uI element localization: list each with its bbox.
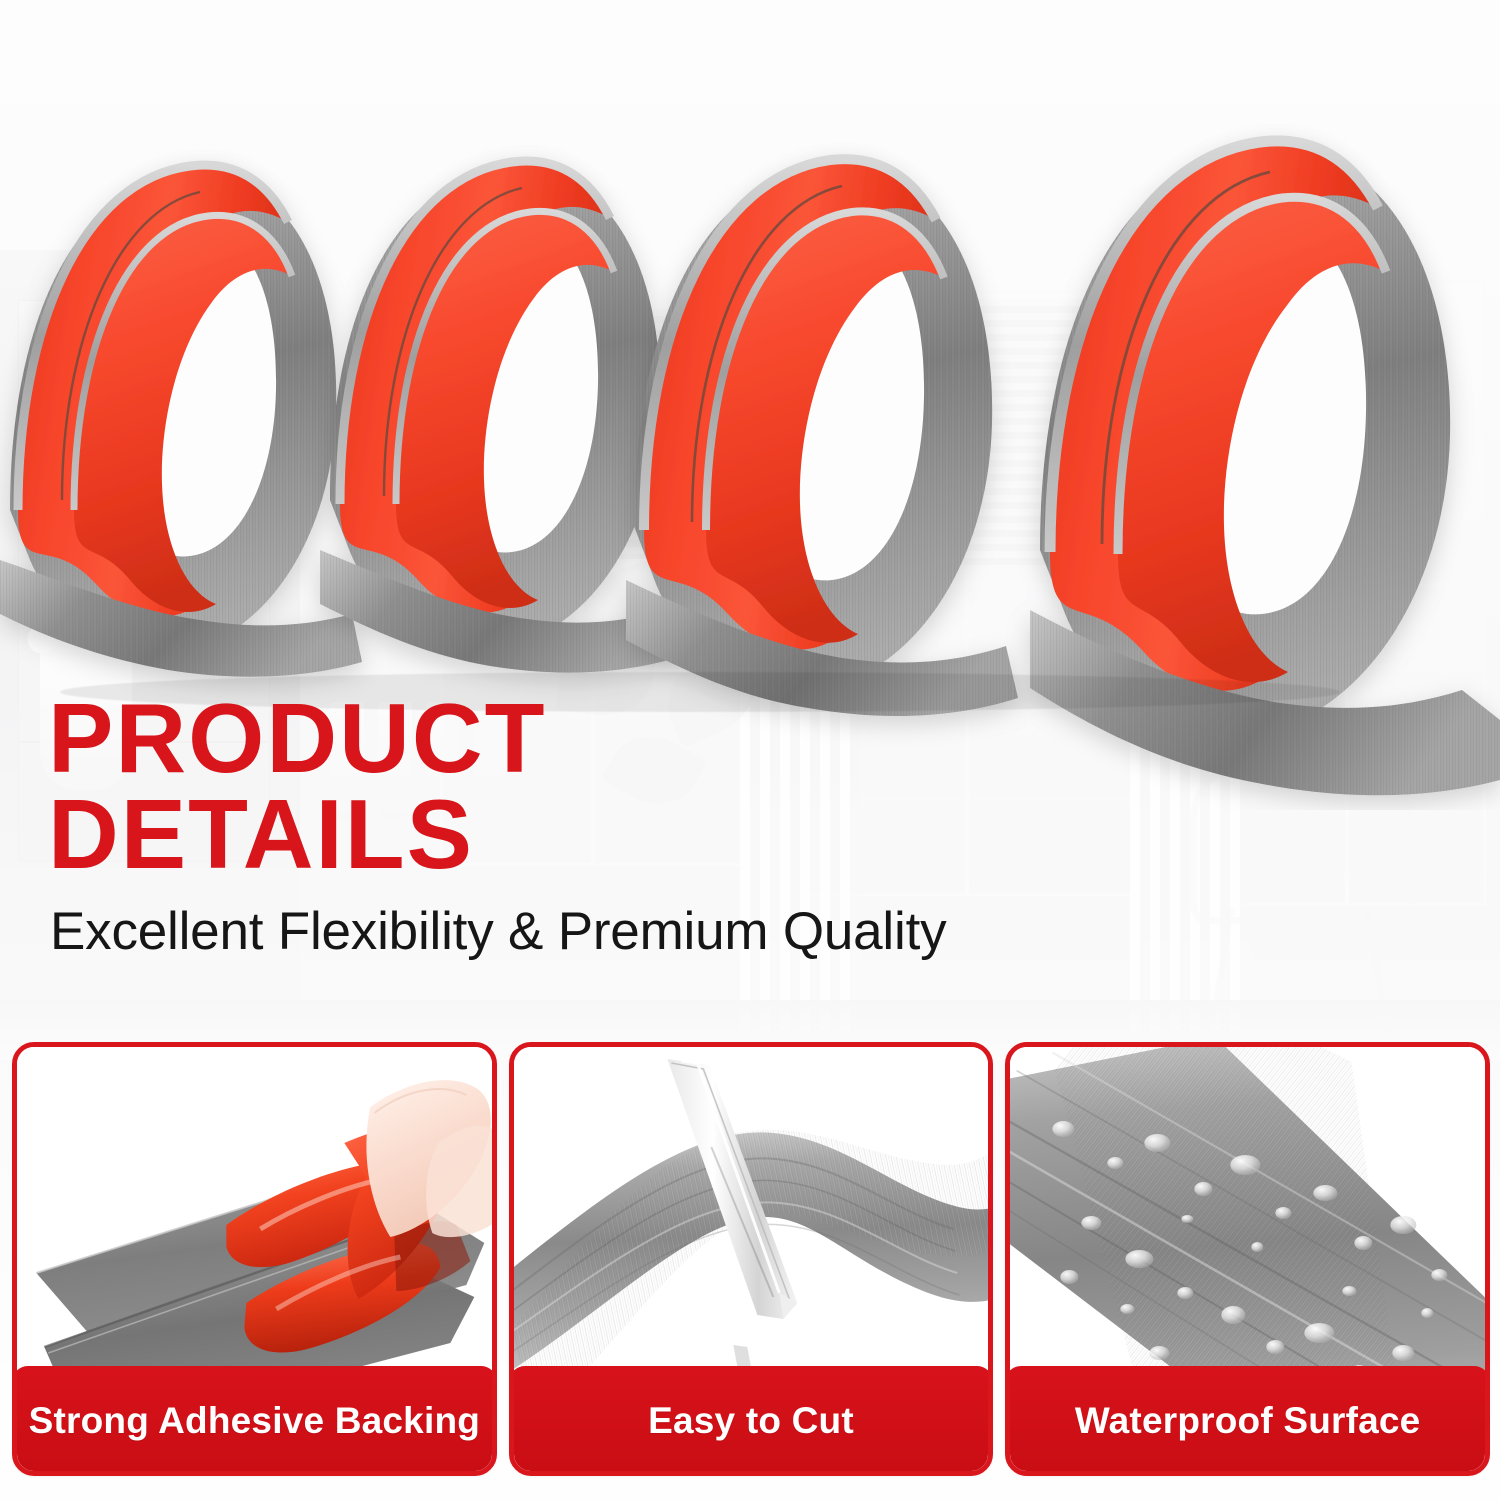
panel-caption-waterproof: Waterproof Surface xyxy=(1005,1366,1490,1476)
feature-panel-cut: Easy to Cut xyxy=(509,1042,994,1476)
headline-subtitle: Excellent Flexibility & Premium Quality xyxy=(50,904,1228,960)
coil-loop-3 xyxy=(626,159,1018,716)
panel-caption-adhesive: Strong Adhesive Backing xyxy=(12,1366,497,1476)
panel-caption-label: Waterproof Surface xyxy=(1075,1400,1421,1442)
product-detail-banner: PRODUCT DETAILS Excellent Flexibility & … xyxy=(0,0,1500,1500)
feature-panels: Strong Adhesive Backing xyxy=(12,1042,1490,1466)
headline-line-1: PRODUCT xyxy=(48,683,547,793)
panel-caption-cut: Easy to Cut xyxy=(509,1366,994,1476)
headline-block: PRODUCT DETAILS Excellent Flexibility & … xyxy=(48,690,1228,960)
page-title: PRODUCT DETAILS xyxy=(48,690,1228,882)
coil-loop-1 xyxy=(0,165,362,677)
feature-panel-waterproof: Waterproof Surface xyxy=(1005,1042,1490,1476)
panel-caption-label: Strong Adhesive Backing xyxy=(29,1400,480,1442)
headline-line-2: DETAILS xyxy=(48,786,1228,882)
feature-panel-adhesive: Strong Adhesive Backing xyxy=(12,1042,497,1476)
panel-caption-label: Easy to Cut xyxy=(648,1400,854,1442)
